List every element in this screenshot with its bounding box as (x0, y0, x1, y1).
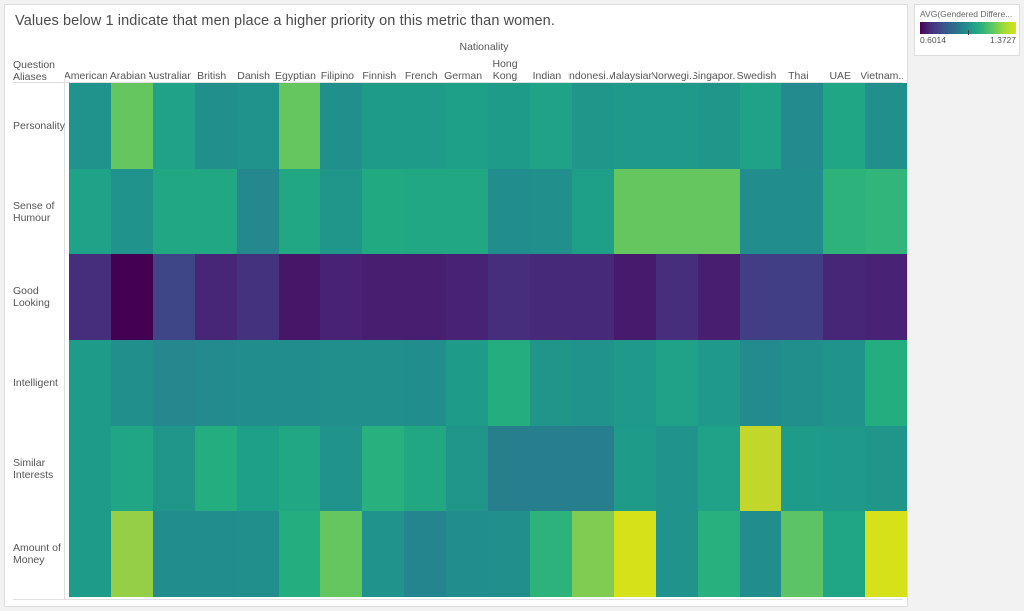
row-field-label[interactable]: Question Aliases (13, 59, 65, 83)
heatmap-cell[interactable] (237, 83, 279, 169)
heatmap-cell[interactable] (362, 254, 404, 340)
heatmap-cell[interactable] (656, 340, 698, 426)
heatmap-cell[interactable] (572, 426, 614, 512)
column-header[interactable]: Swedish (736, 55, 778, 83)
row-header-line: Sense of (13, 200, 54, 212)
column-header[interactable]: Singapor.. (694, 55, 736, 83)
column-header-text: Thai (788, 70, 808, 82)
column-header-text: Vietnam.. (861, 70, 903, 82)
heatmap-cell[interactable] (698, 83, 740, 169)
heatmap-cell[interactable] (865, 254, 907, 340)
column-header[interactable]: Danish (233, 55, 275, 83)
heatmap-cell[interactable] (279, 83, 321, 169)
legend-tick-marker (968, 30, 969, 35)
column-header-text: American (65, 70, 107, 82)
row-header[interactable]: Personality (13, 83, 65, 169)
heatmap-cell[interactable] (404, 511, 446, 597)
column-header[interactable]: UAE (819, 55, 861, 83)
heatmap-cell[interactable] (614, 254, 656, 340)
heatmap-cell[interactable] (865, 169, 907, 255)
heatmap-cell[interactable] (488, 254, 530, 340)
heatmap-cell[interactable] (656, 254, 698, 340)
column-header[interactable]: Finnish (358, 55, 400, 83)
legend-max-label: 1.3727 (990, 35, 1016, 45)
heatmap-cell[interactable] (698, 254, 740, 340)
heatmap-cell[interactable] (488, 426, 530, 512)
row-header-line: Similar (13, 457, 53, 469)
heatmap-cell[interactable] (781, 426, 823, 512)
column-header[interactable]: Vietnam.. (861, 55, 903, 83)
color-legend[interactable]: AVG(Gendered Differe... 0.6014 1.3727 (914, 4, 1020, 56)
heatmap-cell[interactable] (153, 83, 195, 169)
row-header[interactable]: Intelligent (13, 340, 65, 426)
heatmap-cell[interactable] (320, 254, 362, 340)
heatmap-row (69, 169, 907, 255)
heatmap-cell[interactable] (195, 254, 237, 340)
column-header-text: Arabian (110, 70, 146, 82)
column-header-text: Indonesi.. (568, 70, 610, 82)
heatmap-cell[interactable] (823, 83, 865, 169)
heatmap-cell[interactable] (740, 254, 782, 340)
heatmap-cell[interactable] (614, 169, 656, 255)
heatmap-cell[interactable] (740, 83, 782, 169)
heatmap-cell[interactable] (446, 340, 488, 426)
heatmap-cell[interactable] (572, 169, 614, 255)
heatmap-cell[interactable] (572, 83, 614, 169)
heatmap-cell[interactable] (865, 83, 907, 169)
heatmap-cell[interactable] (404, 83, 446, 169)
column-header[interactable]: Norwegi.. (652, 55, 694, 83)
heatmap-cell[interactable] (320, 426, 362, 512)
heatmap-cell[interactable] (823, 426, 865, 512)
heatmap-cell[interactable] (446, 169, 488, 255)
heatmap-cell[interactable] (530, 511, 572, 597)
heatmap-cell[interactable] (446, 254, 488, 340)
row-header[interactable]: Sense ofHumour (13, 169, 65, 255)
heatmap-cell[interactable] (740, 340, 782, 426)
heatmap-cell[interactable] (195, 83, 237, 169)
heatmap-cell[interactable] (740, 426, 782, 512)
heatmap-cell[interactable] (781, 254, 823, 340)
column-header-text: Danish (237, 70, 270, 82)
heatmap-cell[interactable] (488, 83, 530, 169)
heatmap-cell[interactable] (656, 169, 698, 255)
column-header[interactable]: Indonesi.. (568, 55, 610, 83)
heatmap-cell[interactable] (530, 254, 572, 340)
heatmap-cell[interactable] (237, 426, 279, 512)
heatmap-cell[interactable] (320, 83, 362, 169)
heatmap-row (69, 511, 907, 597)
heatmap-cell[interactable] (446, 426, 488, 512)
heatmap-cell[interactable] (865, 340, 907, 426)
column-header-text: Malaysian (610, 70, 652, 82)
heatmap-cell[interactable] (572, 254, 614, 340)
column-header-text: British (197, 70, 226, 82)
heatmap-row (69, 83, 907, 169)
heatmap-cell[interactable] (488, 511, 530, 597)
column-header-row: AmericanArabianAustralianBritishDanishEg… (65, 55, 903, 83)
row-header[interactable]: SimilarInterests (13, 426, 65, 512)
heatmap-cell[interactable] (614, 426, 656, 512)
heatmap-cell[interactable] (153, 254, 195, 340)
heatmap-cell[interactable] (781, 169, 823, 255)
column-header-text: Filipino (321, 70, 354, 82)
heatmap-cell[interactable] (69, 340, 111, 426)
column-header[interactable]: Thai (777, 55, 819, 83)
heatmap-cell[interactable] (111, 169, 153, 255)
column-field-label[interactable]: Nationality (65, 41, 903, 53)
heatmap-cell[interactable] (572, 511, 614, 597)
heatmap-cell[interactable] (111, 511, 153, 597)
heatmap-cell[interactable] (195, 426, 237, 512)
heatmap-cell[interactable] (237, 169, 279, 255)
heatmap-cell[interactable] (320, 169, 362, 255)
heatmap-cell[interactable] (69, 169, 111, 255)
heatmap-cell[interactable] (279, 511, 321, 597)
row-header-text: Personality (13, 120, 65, 132)
heatmap-cell[interactable] (362, 340, 404, 426)
column-header[interactable]: American (65, 55, 107, 83)
heatmap-cell[interactable] (362, 426, 404, 512)
row-header-line: Humour (13, 212, 54, 224)
heatmap-cell[interactable] (614, 340, 656, 426)
legend-title: AVG(Gendered Differe... (920, 9, 1014, 19)
heatmap-cell[interactable] (488, 340, 530, 426)
column-header[interactable]: Filipino (316, 55, 358, 83)
footer-divider (13, 599, 903, 600)
heatmap-cell[interactable] (614, 511, 656, 597)
heatmap-cell[interactable] (237, 511, 279, 597)
heatmap-cell[interactable] (656, 511, 698, 597)
heatmap-cell[interactable] (153, 169, 195, 255)
column-header-text: Hong (492, 58, 517, 70)
page-title: Values below 1 indicate that men place a… (15, 13, 555, 29)
heatmap-cell[interactable] (362, 83, 404, 169)
row-header-line: Good (13, 285, 50, 297)
heatmap-cell[interactable] (698, 169, 740, 255)
heatmap-grid[interactable] (65, 83, 907, 597)
row-header-text: Amount ofMoney (13, 542, 61, 566)
heatmap-cell[interactable] (195, 340, 237, 426)
column-header-text: Australian (149, 70, 191, 82)
heatmap-cell[interactable] (404, 169, 446, 255)
column-header-text: Kong (493, 70, 518, 82)
heatmap-row (69, 254, 907, 340)
heatmap-cell[interactable] (111, 254, 153, 340)
column-header[interactable]: French (400, 55, 442, 83)
heatmap-cell[interactable] (153, 426, 195, 512)
row-header-text: Sense ofHumour (13, 200, 54, 224)
column-header-text: Swedish (737, 70, 777, 82)
tableau-heatmap-dashboard: Values below 1 indicate that men place a… (0, 0, 1024, 611)
heatmap-cell[interactable] (865, 426, 907, 512)
heatmap-cell[interactable] (698, 426, 740, 512)
heatmap-cell[interactable] (740, 511, 782, 597)
heatmap-cell[interactable] (279, 254, 321, 340)
row-header-text: GoodLooking (13, 285, 50, 309)
heatmap-cell[interactable] (698, 511, 740, 597)
column-header-text: Indian (533, 70, 562, 82)
heatmap-cell[interactable] (572, 340, 614, 426)
heatmap-cell[interactable] (153, 340, 195, 426)
heatmap-cell[interactable] (698, 340, 740, 426)
heatmap-cell[interactable] (488, 169, 530, 255)
column-header[interactable]: Egyptian (275, 55, 317, 83)
heatmap-cell[interactable] (111, 83, 153, 169)
heatmap-cell[interactable] (530, 83, 572, 169)
heatmap-cell[interactable] (69, 426, 111, 512)
heatmap-cell[interactable] (111, 340, 153, 426)
heatmap-cell[interactable] (153, 511, 195, 597)
row-header-line: Money (13, 554, 61, 566)
heatmap-cell[interactable] (656, 83, 698, 169)
legend-min-label: 0.6014 (920, 35, 946, 45)
heatmap-cell[interactable] (781, 340, 823, 426)
heatmap-cell[interactable] (614, 83, 656, 169)
column-header[interactable]: Australian (149, 55, 191, 83)
heatmap-cell[interactable] (69, 83, 111, 169)
row-header-text: Intelligent (13, 377, 58, 389)
heatmap-cell[interactable] (320, 340, 362, 426)
column-header[interactable]: Arabian (107, 55, 149, 83)
heatmap-cell[interactable] (530, 426, 572, 512)
heatmap-cell[interactable] (362, 511, 404, 597)
heatmap-cell[interactable] (823, 511, 865, 597)
heatmap-cell[interactable] (237, 254, 279, 340)
column-header-text: Norwegi.. (652, 70, 694, 82)
heatmap-cell[interactable] (69, 254, 111, 340)
row-field-label-line1: Question (13, 59, 65, 71)
heatmap-cell[interactable] (530, 340, 572, 426)
row-header-column: PersonalitySense ofHumourGoodLookingInte… (13, 83, 65, 597)
column-header[interactable]: Malaysian (610, 55, 652, 83)
heatmap-cell[interactable] (823, 340, 865, 426)
heatmap-cell[interactable] (320, 511, 362, 597)
column-header-text: UAE (829, 70, 851, 82)
column-header[interactable]: HongKong (484, 55, 526, 83)
row-header[interactable]: GoodLooking (13, 254, 65, 340)
heatmap-cell[interactable] (446, 511, 488, 597)
heatmap-cell[interactable] (740, 169, 782, 255)
column-header-text: French (405, 70, 438, 82)
row-header[interactable]: Amount ofMoney (13, 511, 65, 597)
heatmap-cell[interactable] (279, 340, 321, 426)
heatmap-cell[interactable] (446, 83, 488, 169)
heatmap-row (69, 426, 907, 512)
column-header-text: German (444, 70, 482, 82)
heatmap-cell[interactable] (69, 511, 111, 597)
legend-range-labels: 0.6014 1.3727 (920, 35, 1016, 45)
column-header[interactable]: British (191, 55, 233, 83)
heatmap-cell[interactable] (404, 426, 446, 512)
heatmap-cell[interactable] (279, 426, 321, 512)
heatmap-cell[interactable] (195, 169, 237, 255)
column-header-text: Egyptian (275, 70, 316, 82)
heatmap-cell[interactable] (362, 169, 404, 255)
heatmap-cell[interactable] (404, 254, 446, 340)
heatmap-cell[interactable] (656, 426, 698, 512)
heatmap-row (69, 340, 907, 426)
heatmap-cell[interactable] (279, 169, 321, 255)
column-header[interactable]: Indian (526, 55, 568, 83)
heatmap-cell[interactable] (865, 511, 907, 597)
visualization-panel: Values below 1 indicate that men place a… (4, 4, 908, 607)
column-header[interactable]: German (442, 55, 484, 83)
heatmap-cell[interactable] (530, 169, 572, 255)
column-header-text: Finnish (362, 70, 396, 82)
heatmap-cell[interactable] (237, 340, 279, 426)
column-header-text: Singapor.. (694, 70, 736, 82)
heatmap-cell[interactable] (111, 426, 153, 512)
heatmap-cell[interactable] (823, 169, 865, 255)
row-header-line: Looking (13, 297, 50, 309)
row-header-text: SimilarInterests (13, 457, 53, 481)
row-header-line: Amount of (13, 542, 61, 554)
heatmap-cell[interactable] (404, 340, 446, 426)
heatmap-cell[interactable] (781, 83, 823, 169)
row-header-line: Interests (13, 469, 53, 481)
heatmap-cell[interactable] (781, 511, 823, 597)
heatmap-cell[interactable] (195, 511, 237, 597)
legend-color-ramp (920, 22, 1016, 34)
heatmap-cell[interactable] (823, 254, 865, 340)
